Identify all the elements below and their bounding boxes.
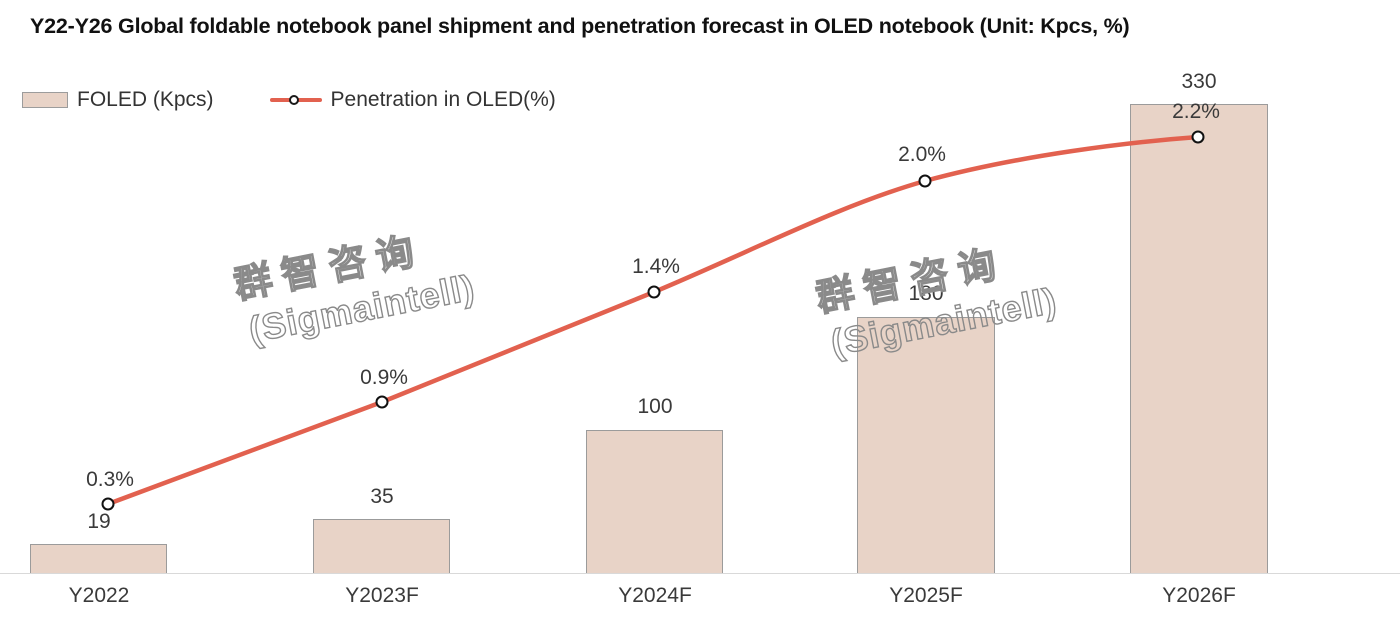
bar-y2023f[interactable]: [313, 519, 450, 574]
bar-y2025f[interactable]: [857, 317, 995, 574]
bar-y2022[interactable]: [30, 544, 167, 574]
legend-label-foled: FOLED (Kpcs): [77, 88, 214, 112]
line-marker-y2024f[interactable]: [648, 286, 661, 299]
legend-item-foled[interactable]: FOLED (Kpcs): [22, 88, 214, 112]
x-axis-label-y2024f: Y2024F: [618, 584, 692, 608]
line-marker-y2022[interactable]: [102, 498, 115, 511]
pct-label-y2023f: 0.9%: [360, 366, 408, 390]
pct-label-y2024f: 1.4%: [632, 255, 680, 279]
bar-y2024f[interactable]: [586, 430, 723, 574]
pct-label-y2026f: 2.2%: [1172, 100, 1220, 124]
line-swatch-icon: [270, 92, 322, 108]
bar-value-y2026f: 330: [1181, 70, 1216, 94]
pct-label-y2022: 0.3%: [86, 468, 134, 492]
line-marker-y2025f[interactable]: [919, 175, 932, 188]
bar-y2026f[interactable]: [1130, 104, 1268, 574]
pct-label-y2025f: 2.0%: [898, 143, 946, 167]
legend-item-penetration[interactable]: Penetration in OLED(%): [270, 88, 556, 112]
bar-value-y2025f: 180: [908, 282, 943, 306]
x-axis-label-y2022: Y2022: [69, 584, 130, 608]
x-axis-label-y2026f: Y2026F: [1162, 584, 1236, 608]
x-axis-label-y2023f: Y2023F: [345, 584, 419, 608]
chart-legend: FOLED (Kpcs) Penetration in OLED(%): [22, 88, 556, 112]
bar-value-y2023f: 35: [370, 485, 393, 509]
bar-value-y2024f: 100: [637, 395, 672, 419]
line-marker-y2026f[interactable]: [1192, 131, 1205, 144]
chart-root: Y22-Y26 Global foldable notebook panel s…: [0, 0, 1400, 631]
bar-value-y2022: 19: [87, 510, 110, 534]
x-axis-line: [0, 573, 1400, 574]
line-marker-y2023f[interactable]: [376, 396, 389, 409]
bar-swatch-icon: [22, 92, 68, 108]
x-axis-label-y2025f: Y2025F: [889, 584, 963, 608]
legend-label-penetration: Penetration in OLED(%): [331, 88, 556, 112]
